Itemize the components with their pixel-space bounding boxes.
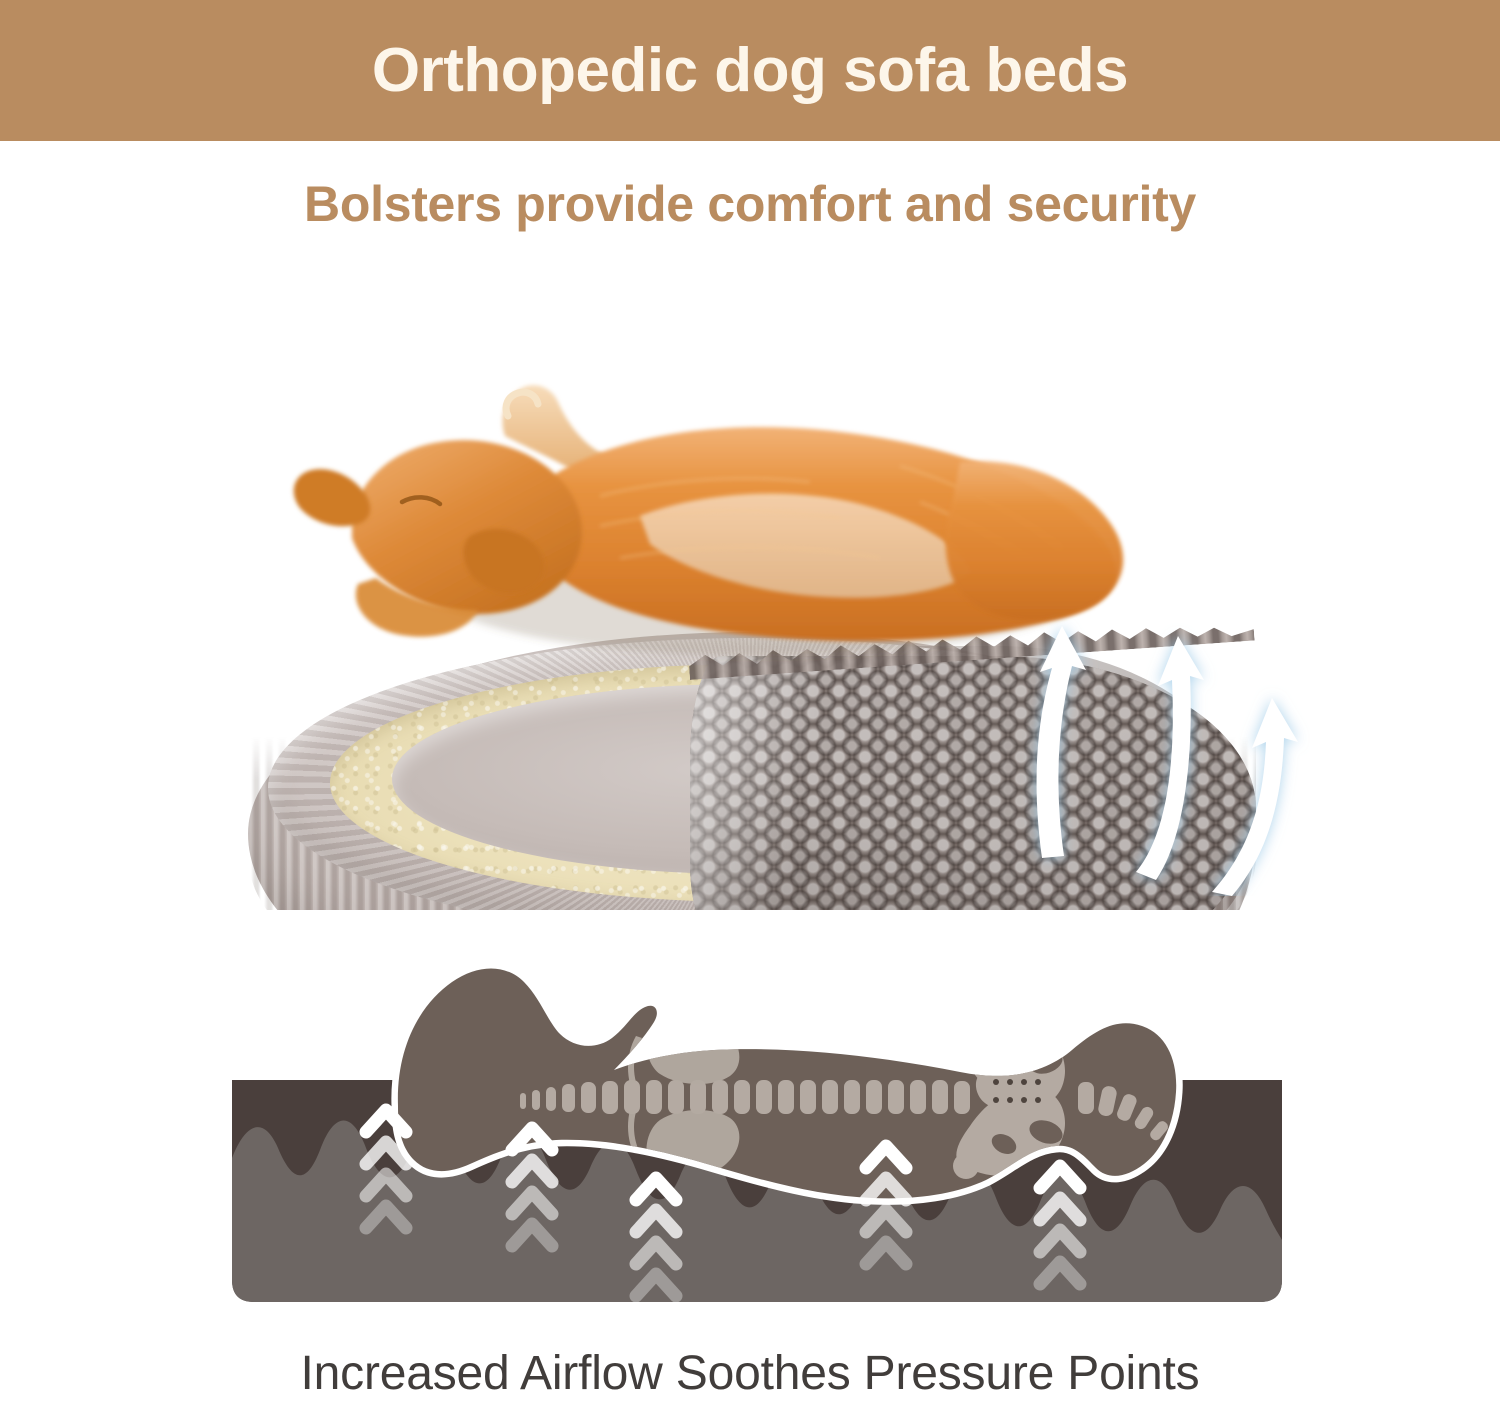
caption-section: Increased Airflow Soothes Pressure Point… [0, 1330, 1500, 1417]
page-title: Orthopedic dog sofa beds [372, 40, 1128, 102]
subtitle-text: Bolsters provide comfort and security [304, 175, 1196, 233]
airflow-arrow-right [1212, 698, 1298, 896]
airflow-arrow-center [1136, 636, 1204, 880]
foam-cross-section-diagram [0, 910, 1500, 1330]
header-banner: Orthopedic dog sofa beds [0, 0, 1500, 141]
product-photo-panel [0, 266, 1500, 916]
dog-ear-left [294, 469, 370, 526]
subtitle-section: Bolsters provide comfort and security [0, 141, 1500, 266]
caption-text: Increased Airflow Soothes Pressure Point… [301, 1346, 1200, 1401]
diagram-illustration [0, 910, 1500, 1330]
airflow-arrow-left [1037, 626, 1086, 858]
spine-vertebrae [520, 1080, 970, 1114]
airflow-arrows-group [980, 596, 1310, 896]
photo-stage [0, 266, 1500, 916]
